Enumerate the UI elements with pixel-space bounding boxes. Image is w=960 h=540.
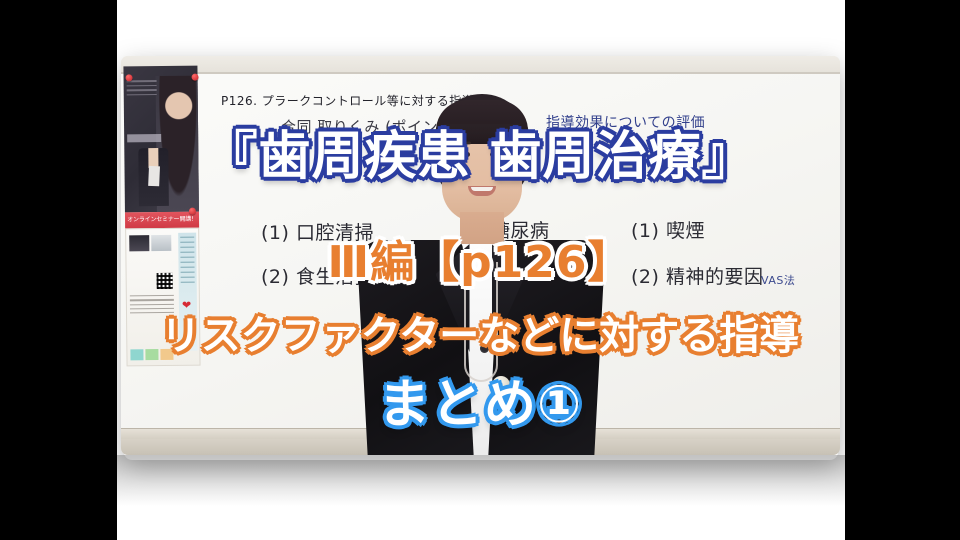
poster-thumbnail-row <box>129 235 171 251</box>
poster-sidebar <box>178 233 197 351</box>
pushpin-icon <box>189 208 196 215</box>
presenter-necklace <box>464 262 498 382</box>
poster-color-chips <box>130 349 173 360</box>
presenter-eye-right <box>490 152 506 157</box>
bottom-fade <box>117 455 845 540</box>
poster-top-panel <box>123 66 199 213</box>
presenter-eye-left <box>454 152 470 157</box>
pushpin-icon <box>126 74 133 81</box>
poster-thumb-dark <box>129 235 149 251</box>
poster-bottom-panel <box>125 228 200 367</box>
wall-poster: オンラインセミナー開講！ ❤ <box>123 66 200 367</box>
poster-banner: オンラインセミナー開講！ <box>125 212 199 229</box>
screenshot-stage: P126. プラークコントロール等に対する指導 合同 取りくみ (ポイント) →… <box>0 0 960 540</box>
video-player[interactable]: P126. プラークコントロール等に対する指導 合同 取りくみ (ポイント) →… <box>121 56 840 455</box>
poster-headline-strip <box>127 134 161 142</box>
qr-code-icon <box>157 273 173 289</box>
whiteboard-col3-item2: (2) 精神的要因 <box>631 262 763 289</box>
presenter-figure <box>356 94 606 455</box>
whiteboard-col3-annotation: VAS法 <box>761 272 795 288</box>
poster-paragraph-lines <box>130 295 174 317</box>
poster-thumb-light <box>151 235 171 251</box>
presenter-jacket-button <box>480 344 489 353</box>
presenter-hair-front <box>436 100 528 144</box>
poster-text-lines <box>127 80 157 98</box>
whiteboard-col3-item1: (1) 喫煙 <box>631 216 705 243</box>
presenter-pendant <box>492 376 510 394</box>
poster-portrait-shirt <box>148 166 160 186</box>
pushpin-icon <box>192 74 199 81</box>
heart-icon: ❤ <box>182 302 191 311</box>
letterbox-bar-left <box>0 0 117 540</box>
letterbox-bar-right <box>845 0 960 540</box>
